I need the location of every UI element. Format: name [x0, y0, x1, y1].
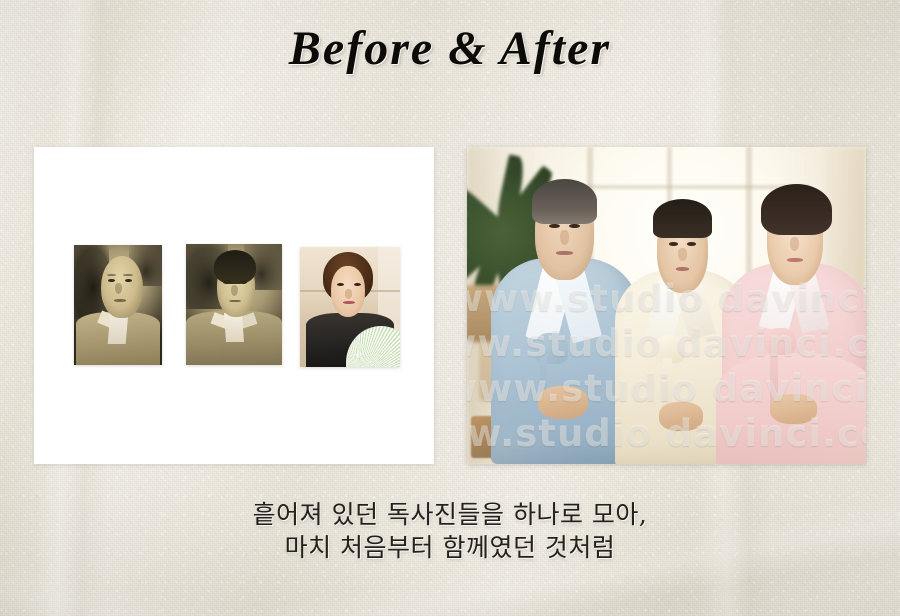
woman-center-eye-right	[687, 242, 697, 246]
woman-nose	[231, 285, 238, 296]
caption-line-2: 마치 처음부터 함께였던 것처럼	[0, 531, 900, 564]
slide-canvas: Before & After	[0, 0, 900, 616]
woman-eye-left	[223, 280, 230, 284]
woman-hair	[214, 250, 256, 284]
man-eye-left	[549, 224, 560, 228]
woman-center-eye-left	[669, 242, 679, 246]
woman-collar	[224, 313, 244, 342]
before-panel	[34, 147, 434, 464]
fan-woman-nose	[345, 289, 352, 299]
woman-right-hanbok-knot	[765, 328, 796, 355]
woman-eye-right	[240, 280, 247, 284]
man-mouth	[114, 299, 126, 302]
photo-old-man-portrait	[74, 245, 162, 365]
woman-right-hair	[761, 184, 832, 236]
man-hair	[532, 179, 597, 224]
caption: 흩어져 있던 독사진들을 하나로 모아, 마치 처음부터 함께였던 것처럼	[0, 498, 900, 564]
woman-center-nose	[678, 248, 686, 262]
woman-right-hands	[770, 394, 817, 424]
woman-center-hands	[659, 402, 702, 431]
man-eye-right	[569, 224, 580, 228]
woman-right-mouth	[787, 258, 803, 262]
photo-old-woman-portrait	[186, 244, 282, 365]
page-title: Before & After	[0, 21, 900, 76]
man-hands	[538, 386, 588, 419]
woman-center-mouth	[676, 267, 689, 270]
man-nose	[560, 230, 569, 245]
subject-woman-right	[722, 195, 866, 464]
woman-right-nose	[790, 237, 799, 251]
fan-woman-mouth	[343, 301, 355, 304]
after-panel: www.studio davinci.com www.studio davinc…	[467, 147, 866, 464]
photo-woman-with-fan-portrait	[300, 247, 400, 367]
man-collar	[108, 313, 128, 344]
before-thumbnail-group	[34, 147, 434, 464]
man-mouth	[556, 251, 573, 255]
woman-center-hair	[653, 199, 713, 238]
caption-line-1: 흩어져 있던 독사진들을 하나로 모아,	[0, 498, 900, 531]
